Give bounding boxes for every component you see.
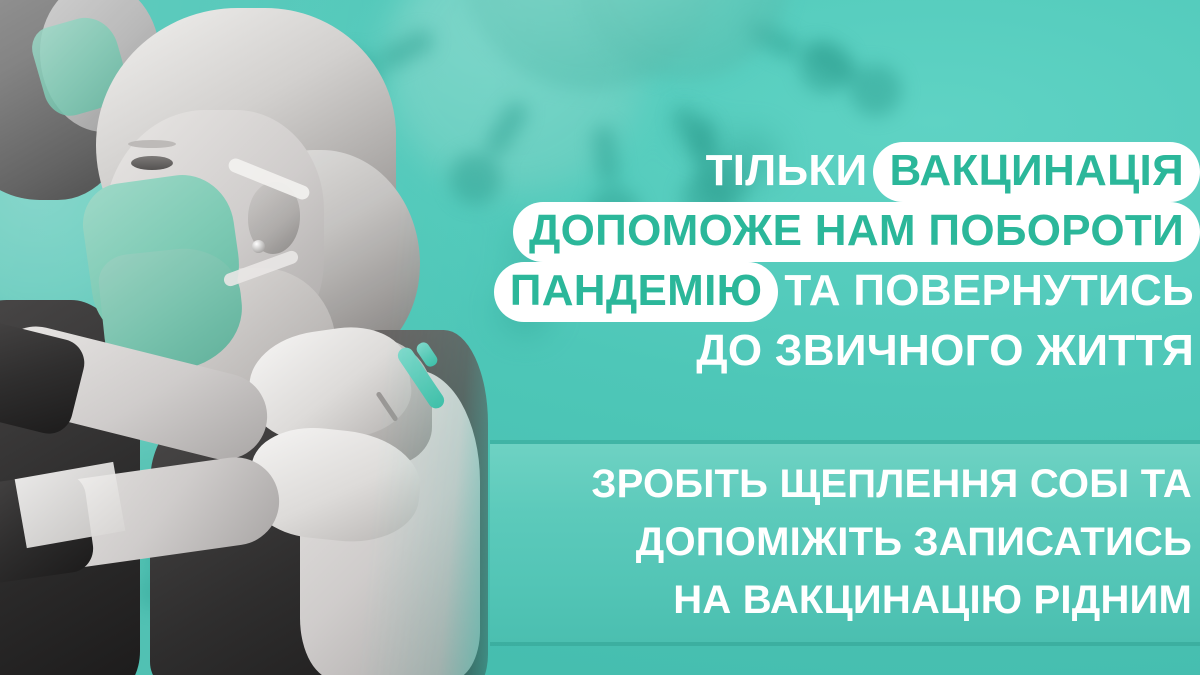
headline: ТІЛЬКИВАКЦИНАЦІЯ ДОПОМОЖЕ НАМ ПОБОРОТИ П… xyxy=(470,140,1200,380)
headline-line-3: ПАНДЕМІЮТА ПОВЕРНУТИСЬ xyxy=(470,260,1200,320)
headline-line-4: ДО ЗВИЧНОГО ЖИТТЯ xyxy=(470,320,1200,380)
headline-word-tilky: ТІЛЬКИ xyxy=(700,142,874,202)
subhead: ЗРОБІТЬ ЩЕПЛЕННЯ СОБІ ТА ДОПОМІЖІТЬ ЗАПИ… xyxy=(470,455,1200,629)
virus-particle-icon xyxy=(520,0,850,140)
headline-pill-will-help-us-defeat: ДОПОМОЖЕ НАМ ПОБОРОТИ xyxy=(513,202,1200,262)
subhead-line-3: НА ВАКЦИНАЦІЮ РІДНИМ xyxy=(470,571,1192,629)
headline-pill-vaccination: ВАКЦИНАЦІЯ xyxy=(873,142,1200,202)
headline-pill-pandemic: ПАНДЕМІЮ xyxy=(494,262,779,322)
vaccination-poster: ТІЛЬКИВАКЦИНАЦІЯ ДОПОМОЖЕ НАМ ПОБОРОТИ П… xyxy=(0,0,1200,675)
photo-fade-mask xyxy=(0,0,520,675)
headline-words-and-return: ТА ПОВЕРНУТИСЬ xyxy=(778,262,1200,322)
headline-line-1: ТІЛЬКИВАКЦИНАЦІЯ xyxy=(470,140,1200,200)
subhead-line-2: ДОПОМІЖІТЬ ЗАПИСАТИСЬ xyxy=(470,513,1192,571)
headline-line-2: ДОПОМОЖЕ НАМ ПОБОРОТИ xyxy=(470,200,1200,260)
patient-eye xyxy=(131,156,173,170)
vaccination-photo xyxy=(0,0,520,675)
headline-words-to-usual-life: ДО ЗВИЧНОГО ЖИТТЯ xyxy=(690,322,1200,382)
patient-eyebrow xyxy=(128,140,176,148)
patient-earring xyxy=(252,240,265,253)
subhead-line-1: ЗРОБІТЬ ЩЕПЛЕННЯ СОБІ ТА xyxy=(470,455,1192,513)
